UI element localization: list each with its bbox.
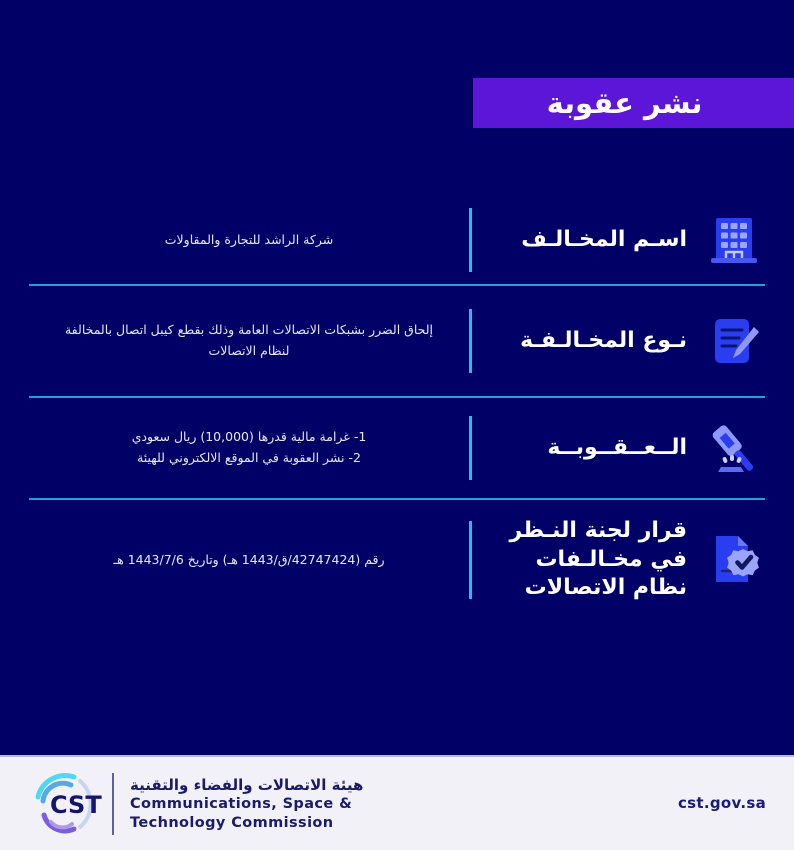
value-line: 2- نشر العقوبة في الموقع الالكتروني للهي…: [43, 448, 455, 469]
row-value-violation-type: إلحاق الضرر بشبكات الاتصالات العامة وذلك…: [29, 320, 469, 361]
document-check-badge-icon: [703, 529, 765, 591]
row-value-decision: رقم (42747424/ق/1443 هـ) وتاريخ 1443/7/6…: [29, 550, 469, 571]
label-accent-rule: [469, 416, 472, 480]
table-row: رقم (42747424/ق/1443 هـ) وتاريخ 1443/7/6…: [0, 500, 794, 620]
row-label-group: قرار لجنة النـظر في مخـالـفات نظام الاتص…: [469, 500, 765, 620]
details-list: شركة الراشد للتجارة والمقاولات اسـم المخ…: [0, 196, 794, 755]
website-url[interactable]: cst.gov.sa: [678, 794, 766, 814]
gavel-icon: [703, 417, 765, 479]
footer-organization: هيئة الاتصالات والفضاء والتقنية Communic…: [130, 775, 363, 833]
row-value-violator-name: شركة الراشد للتجارة والمقاولات: [29, 230, 469, 251]
row-label-group: اسـم المخـالـف: [469, 196, 765, 284]
label-accent-rule: [469, 521, 472, 599]
table-row: 1- غرامة مالية قدرها (10,000) ريال سعودي…: [0, 398, 794, 498]
page-title: نشر عقوبة: [547, 89, 721, 118]
row-label-group: الــعــقــوبــة: [469, 398, 765, 498]
row-value-penalty: 1- غرامة مالية قدرها (10,000) ريال سعودي…: [29, 427, 469, 468]
value-line: شركة الراشد للتجارة والمقاولات: [43, 230, 455, 251]
building-icon: [703, 209, 765, 271]
header-banner: نشر عقوبة: [473, 78, 794, 128]
row-label-violator-name: اسـم المخـالـف: [521, 226, 703, 255]
label-line: نظام الاتصالات: [510, 574, 687, 603]
footer-separator: [112, 773, 114, 835]
row-label-penalty: الــعــقــوبــة: [547, 434, 703, 463]
table-row: شركة الراشد للتجارة والمقاولات اسـم المخ…: [0, 196, 794, 284]
footer-bar: CST هيئة الاتصالات والفضاء والتقنية Comm…: [0, 755, 794, 850]
label-accent-rule: [469, 208, 472, 272]
table-row: إلحاق الضرر بشبكات الاتصالات العامة وذلك…: [0, 286, 794, 396]
penalty-publication-poster: نشر عقوبة شركة الراشد للتجارة والمقاولات…: [0, 0, 794, 850]
document-pen-icon: [703, 310, 765, 372]
value-line: 1- غرامة مالية قدرها (10,000) ريال سعودي: [43, 427, 455, 448]
row-label-violation-type: نـوع المخـالـفـة: [520, 327, 703, 356]
row-label-group: نـوع المخـالـفـة: [469, 286, 765, 396]
label-line: قرار لجنة النـظر: [510, 517, 687, 546]
cst-wordmark: CST: [50, 791, 102, 819]
header-zone: نشر عقوبة: [0, 0, 794, 196]
value-line: إلحاق الضرر بشبكات الاتصالات العامة وذلك…: [43, 320, 455, 341]
cst-logo-icon: CST: [28, 769, 106, 839]
value-line: لنظام الاتصالات: [43, 341, 455, 362]
label-accent-rule: [469, 309, 472, 373]
label-line: في مخـالـفات: [510, 546, 687, 575]
row-label-decision: قرار لجنة النـظر في مخـالـفات نظام الاتص…: [510, 517, 703, 603]
value-line: رقم (42747424/ق/1443 هـ) وتاريخ 1443/7/6…: [43, 550, 455, 571]
organization-name-ar: هيئة الاتصالات والفضاء والتقنية: [130, 775, 363, 795]
organization-name-en-line1: Communications, Space &: [130, 795, 363, 814]
organization-name-en-line2: Technology Commission: [130, 814, 363, 833]
